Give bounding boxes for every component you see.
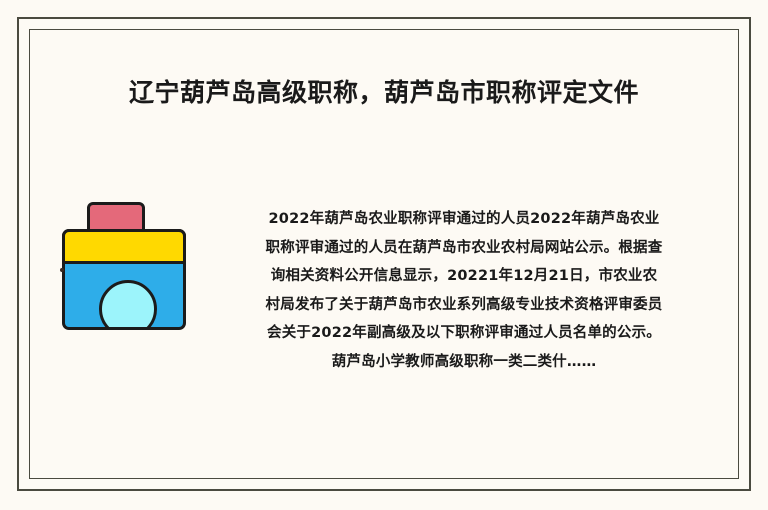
briefcase-illustration (60, 200, 190, 334)
briefcase-dot-icon (60, 268, 64, 272)
page-title: 辽宁葫芦岛高级职称，葫芦岛市职称评定文件 (40, 76, 728, 110)
briefcase-band-icon (62, 229, 186, 264)
article-card: 辽宁葫芦岛高级职称，葫芦岛市职称评定文件 2022年葫芦岛农业职称评审通过的人员… (0, 0, 768, 510)
article-body-text: 2022年葫芦岛农业职称评审通过的人员2022年葫芦岛农业职称评审通过的人员在葫… (265, 205, 663, 376)
briefcase-circle-icon (99, 280, 157, 330)
briefcase-handle-icon (87, 202, 145, 232)
